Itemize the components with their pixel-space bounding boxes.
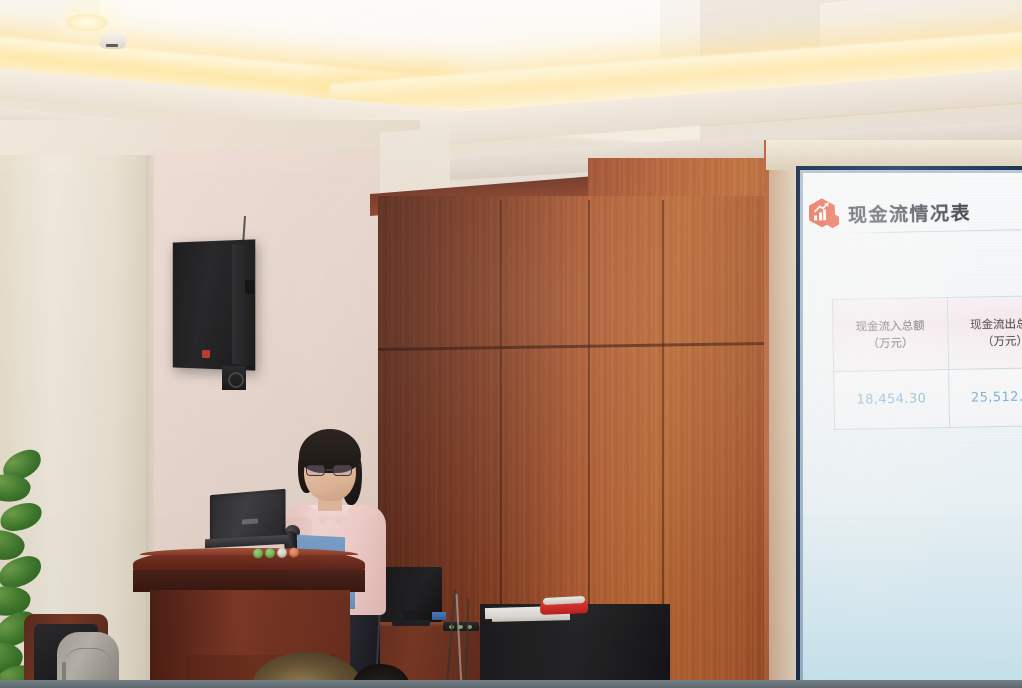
table-cell-outflow: 25,512.31 [948,368,1022,428]
recessed-downlight-icon [66,14,108,31]
table-header-row: 现金流入总额 （万元） 现金流出总额 （万元） [832,296,1022,372]
podium-desktop-highlight [140,548,358,555]
slide-title: 现金流情况表 [848,198,972,227]
table-header-line1: 现金流入总额 [835,317,945,336]
table-header-line1: 现金流出总额 [950,315,1022,334]
podium-control-buttons[interactable] [253,547,305,559]
projection-lower-wash [803,503,1022,688]
conference-room-photo: 现金流情况表 现金流入总额 （万元） 现金流出总额 （万元） [0,0,1022,688]
table-cell-inflow: 18,454.30 [834,369,949,429]
indicator-orange[interactable] [289,547,299,557]
indicator-green-1[interactable] [253,548,263,558]
indicator-green-2[interactable] [265,548,275,558]
speaker-tweeter-icon [245,280,254,294]
projection-screen-surface[interactable]: 现金流情况表 现金流入总额 （万元） 现金流出总额 （万元） [803,173,1022,688]
chart-hexagon-icon [809,198,840,231]
wall-speaker-side [232,244,254,367]
table-header-line2: （万元） [950,332,1022,351]
table-row: 18,454.30 25,512.31 [834,368,1022,430]
table-header-cell: 现金流出总额 （万元） [947,296,1022,370]
table-header-cell: 现金流入总额 （万元） [832,298,948,372]
data-table: 现金流入总额 （万元） 现金流出总额 （万元） 18,454.30 25,512… [832,295,1022,430]
foreground-strip [0,680,1022,688]
speaker-brand-badge [202,350,210,358]
table-header-line2: （万元） [836,334,946,353]
monitor-stand-base [392,620,430,626]
slide-title-rule [841,229,1021,234]
cash-flow-table: 现金流入总额 （万元） 现金流出总额 （万元） 18,454.30 25,512… [832,295,1022,430]
podium-apron [133,570,365,592]
cable-bundle [440,590,500,688]
eyeglasses-icon [305,465,355,477]
speaker-mount-bracket [222,366,246,390]
slide-header: 现金流情况表 [809,195,972,230]
indicator-white[interactable] [277,548,287,558]
smoke-detector-icon [100,33,126,49]
projection-screen-frame-edge [764,140,769,688]
